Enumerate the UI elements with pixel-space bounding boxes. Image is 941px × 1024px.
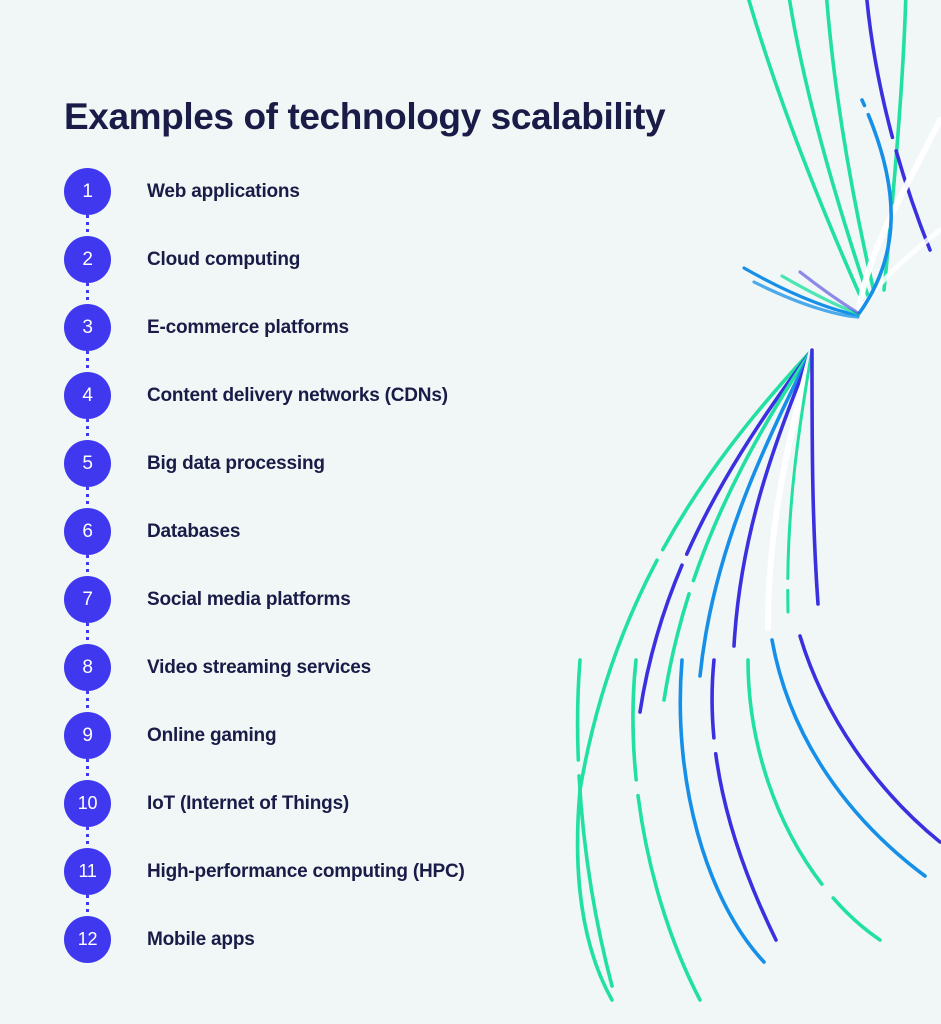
list-item: 6Databases — [64, 508, 764, 576]
list-item: 8Video streaming services — [64, 644, 764, 712]
step-number-badge: 12 — [64, 916, 111, 963]
step-number-badge: 2 — [64, 236, 111, 283]
step-number-badge: 11 — [64, 848, 111, 895]
step-number-badge: 7 — [64, 576, 111, 623]
list-item: 11High-performance computing (HPC) — [64, 848, 764, 916]
infographic-poster: Examples of technology scalability 1Web … — [0, 0, 941, 1024]
step-label: Big data processing — [147, 440, 325, 476]
list-item: 3E-commerce platforms — [64, 304, 764, 372]
list-item: 2Cloud computing — [64, 236, 764, 304]
step-label: Social media platforms — [147, 576, 351, 612]
list-item: 10IoT (Internet of Things) — [64, 780, 764, 848]
page-title: Examples of technology scalability — [64, 92, 665, 142]
step-number-badge: 6 — [64, 508, 111, 555]
list-item: 5Big data processing — [64, 440, 764, 508]
step-label: E-commerce platforms — [147, 304, 349, 340]
step-number-badge: 10 — [64, 780, 111, 827]
scalability-examples-list: 1Web applications2Cloud computing3E-comm… — [64, 168, 764, 984]
list-item: 9Online gaming — [64, 712, 764, 780]
step-label: Online gaming — [147, 712, 276, 748]
list-item: 1Web applications — [64, 168, 764, 236]
step-number-badge: 5 — [64, 440, 111, 487]
step-label: Mobile apps — [147, 916, 255, 952]
list-item: 12Mobile apps — [64, 916, 764, 984]
step-label: Video streaming services — [147, 644, 371, 680]
step-label: High-performance computing (HPC) — [147, 848, 465, 884]
step-number-badge: 8 — [64, 644, 111, 691]
step-label: Content delivery networks (CDNs) — [147, 372, 448, 408]
step-label: Cloud computing — [147, 236, 300, 272]
step-number-badge: 3 — [64, 304, 111, 351]
step-label: Databases — [147, 508, 240, 544]
step-number-badge: 1 — [64, 168, 111, 215]
step-label: Web applications — [147, 168, 300, 204]
list-item: 7Social media platforms — [64, 576, 764, 644]
list-item: 4Content delivery networks (CDNs) — [64, 372, 764, 440]
step-number-badge: 4 — [64, 372, 111, 419]
step-number-badge: 9 — [64, 712, 111, 759]
step-label: IoT (Internet of Things) — [147, 780, 349, 816]
